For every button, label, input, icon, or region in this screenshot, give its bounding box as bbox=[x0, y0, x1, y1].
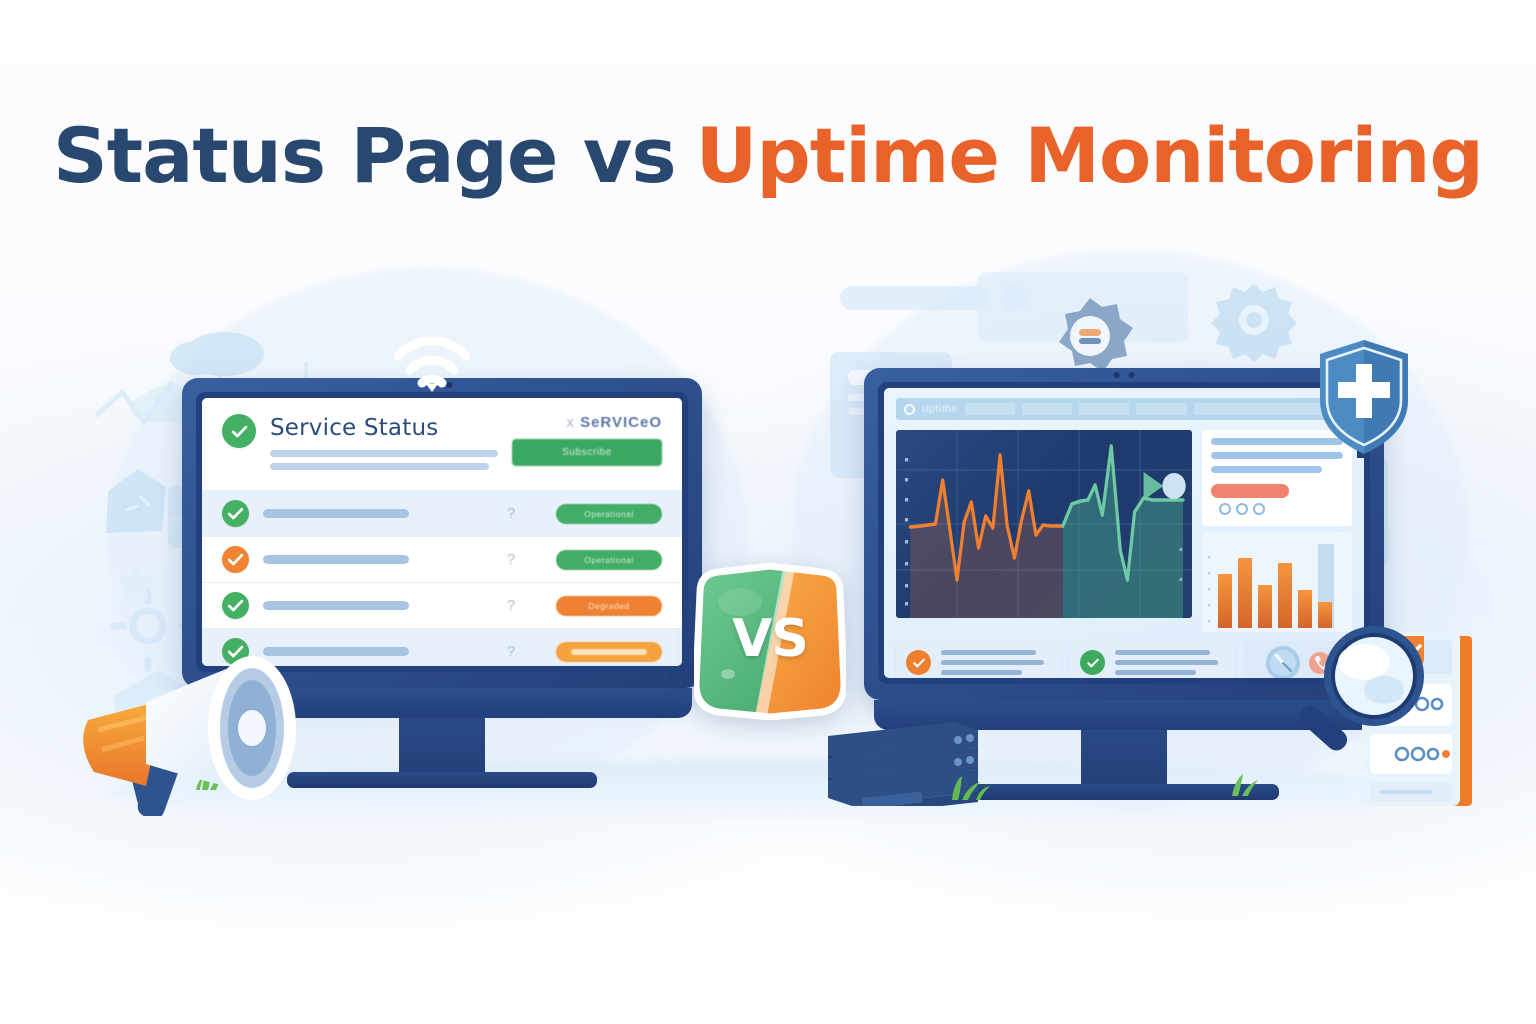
skeleton-line bbox=[270, 463, 489, 470]
megaphone-icon bbox=[58, 616, 318, 816]
circle-icon bbox=[904, 404, 915, 415]
check-circle-green-icon bbox=[222, 592, 249, 619]
row-label bbox=[263, 509, 466, 518]
line-chart-svg bbox=[896, 430, 1192, 618]
status-badge bbox=[556, 642, 662, 662]
check-circle-green-icon bbox=[222, 500, 249, 527]
row-value: ? bbox=[480, 551, 542, 568]
skeleton-line bbox=[270, 450, 498, 457]
url-text: uptime bbox=[922, 403, 958, 415]
title-right: Uptime Monitoring bbox=[696, 111, 1483, 200]
status-card[interactable] bbox=[1070, 641, 1235, 678]
status-page-brand-area: x SeRVICeO Subscribe bbox=[512, 414, 662, 466]
brand-name: SeRVICeO bbox=[580, 414, 662, 431]
status-card-lines bbox=[1115, 650, 1225, 675]
ring-indicators bbox=[1219, 503, 1265, 515]
browser-url-bar[interactable]: uptime bbox=[896, 398, 1352, 420]
url-segment bbox=[1079, 403, 1129, 415]
status-badge: Operational bbox=[556, 550, 662, 570]
shield-cross-icon bbox=[1316, 338, 1412, 458]
check-circle-green-icon bbox=[222, 414, 256, 448]
grass-icon bbox=[1228, 770, 1268, 801]
row-value: ? bbox=[480, 505, 542, 522]
vs-label: VS bbox=[694, 562, 846, 720]
dashboard-status-cards bbox=[896, 641, 1352, 678]
monitor-base-left bbox=[287, 772, 597, 788]
status-page-title: Service Status bbox=[270, 415, 498, 441]
status-page-header: Service Status x SeRVICeO Subscribe bbox=[202, 398, 682, 490]
status-badge: Operational bbox=[556, 504, 662, 524]
row-value: ? bbox=[480, 597, 542, 614]
subscribe-button[interactable]: Subscribe bbox=[512, 439, 662, 466]
table-row[interactable]: ? Operational bbox=[202, 490, 682, 536]
status-badge: Degraded bbox=[556, 596, 662, 616]
vs-badge: VS bbox=[694, 562, 846, 720]
check-circle-orange-icon bbox=[906, 650, 931, 675]
brand-prefix: x bbox=[566, 414, 575, 431]
row-label bbox=[263, 555, 466, 564]
row-label bbox=[263, 601, 466, 610]
dashboard-main bbox=[896, 430, 1352, 632]
monitor-camera-right bbox=[1114, 372, 1135, 378]
check-circle-orange-icon bbox=[222, 546, 249, 573]
brand-logo-text: x SeRVICeO bbox=[512, 414, 662, 431]
url-segment bbox=[965, 403, 1015, 415]
title-left: Status Page vs bbox=[53, 111, 676, 200]
bar-chart-svg bbox=[1202, 532, 1352, 632]
status-card-lines bbox=[941, 650, 1051, 675]
row-value: ? bbox=[480, 643, 542, 660]
status-card[interactable] bbox=[896, 641, 1061, 678]
magnifying-glass-icon bbox=[1288, 618, 1428, 768]
grass-icon bbox=[946, 772, 992, 805]
status-badge-red bbox=[1211, 484, 1289, 498]
wifi-icon bbox=[390, 330, 474, 394]
url-segment bbox=[1136, 403, 1186, 415]
status-page-header-text: Service Status bbox=[270, 414, 498, 476]
table-row[interactable]: ? Operational bbox=[202, 536, 682, 582]
dashboard-side-panel bbox=[1202, 430, 1352, 632]
page-title: Status Page vsUptime Monitoring bbox=[0, 118, 1536, 194]
monitor-neck-right bbox=[1081, 730, 1167, 784]
uptime-line-chart[interactable] bbox=[896, 430, 1192, 618]
check-circle-green-icon bbox=[1080, 650, 1105, 675]
monitor-neck-left bbox=[399, 718, 485, 772]
url-segment bbox=[1022, 403, 1072, 415]
uptime-bar-chart[interactable] bbox=[1202, 532, 1352, 632]
